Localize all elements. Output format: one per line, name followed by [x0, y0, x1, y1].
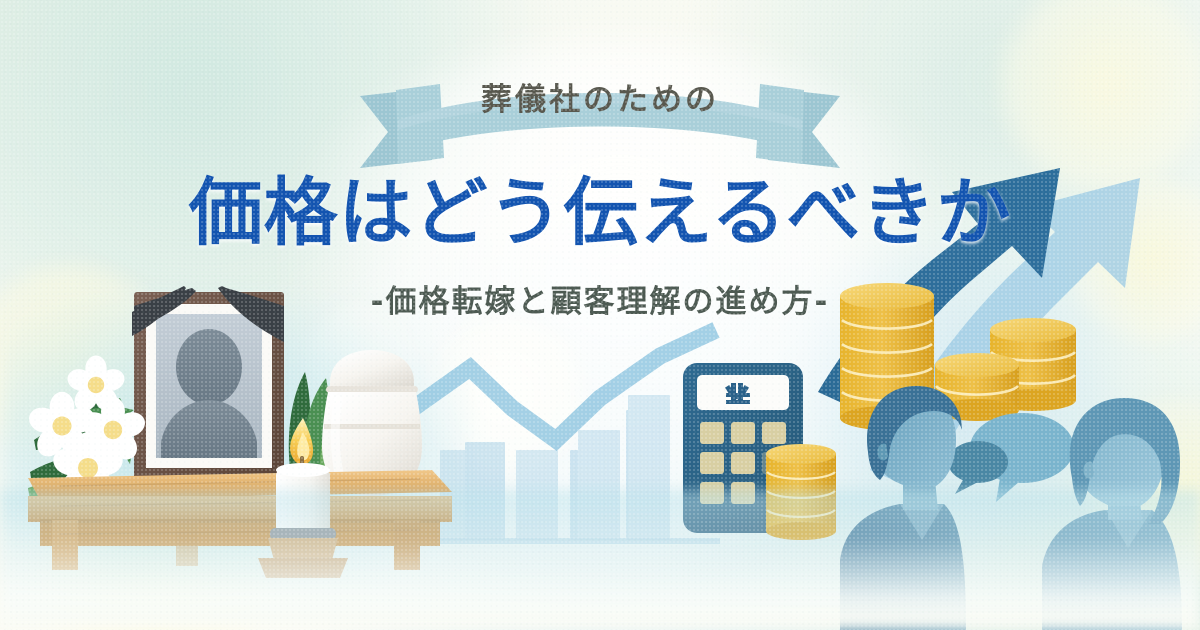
- ribbon-label: 葬儀社のための: [0, 74, 1200, 119]
- page-subtitle: -価格転嫁と顧客理解の進め方-: [0, 276, 1200, 321]
- ogp-banner: 葬儀社のための 価格はどう伝えるべきか -価格転嫁と顧客理解の進め方-: [0, 0, 1200, 630]
- page-title: 価格はどう伝えるべきか: [0, 176, 1200, 250]
